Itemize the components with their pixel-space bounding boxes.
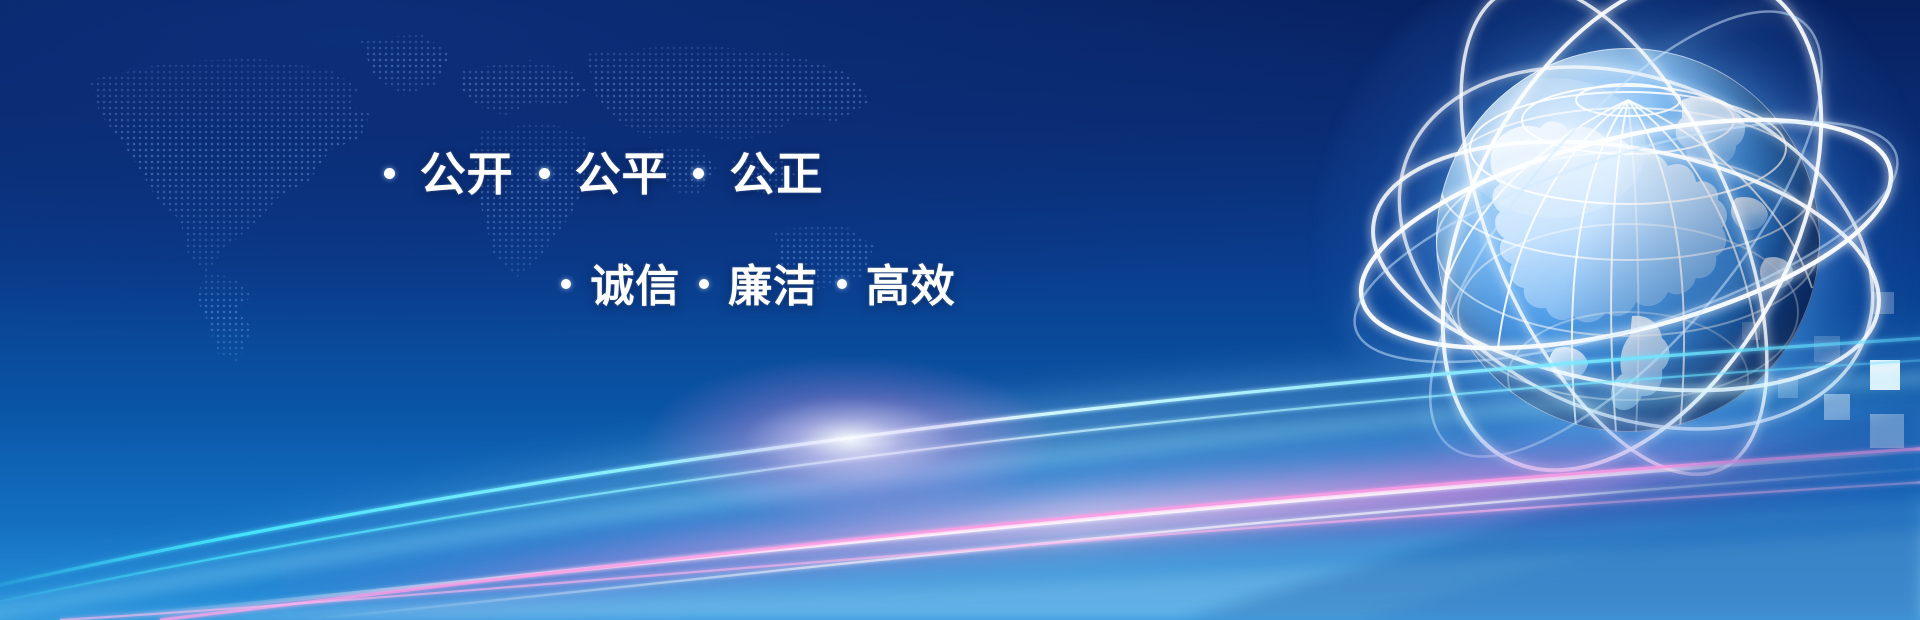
- bullet-dot-icon: [384, 168, 395, 179]
- slogan-word: 廉洁: [728, 250, 818, 314]
- light-wave-streaks: [0, 280, 1920, 620]
- bullet-dot-icon: [699, 279, 709, 289]
- slogan-word: 高效: [866, 250, 956, 314]
- bullet-dot-icon: [693, 168, 704, 179]
- slogan-line-1: 公开 公平 公正: [0, 138, 1180, 204]
- slogan-word: 诚信: [590, 250, 680, 314]
- slogan-word: 公正: [729, 138, 823, 204]
- slogan-line-2: 诚信 廉洁 高效: [0, 250, 1180, 314]
- slogan-word: 公开: [420, 138, 514, 204]
- bullet-dot-icon: [837, 279, 847, 289]
- slogan-word: 公平: [575, 138, 669, 204]
- slogan-block: 公开 公平 公正 诚信 廉洁 高效: [0, 138, 1180, 314]
- bullet-dot-icon: [539, 168, 550, 179]
- bullet-dot-icon: [561, 279, 571, 289]
- banner: 公开 公平 公正 诚信 廉洁 高效: [0, 0, 1920, 620]
